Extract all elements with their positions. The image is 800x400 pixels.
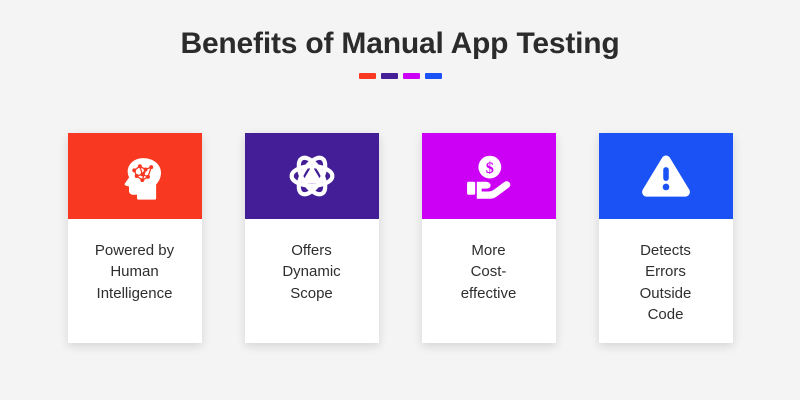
card-body-2: Offers Dynamic Scope (245, 219, 379, 343)
card-body-3: More Cost- effective (422, 219, 556, 343)
card-header-1 (68, 133, 202, 219)
card-label-2: Offers Dynamic Scope (274, 240, 348, 304)
atom-icon (286, 150, 338, 202)
card-label-4: Detects Errors Outside Code (632, 240, 700, 325)
benefit-card-powered-by-human-intelligence[interactable]: Powered by Human Intelligence (68, 133, 202, 343)
benefit-card-more-cost-effective[interactable]: $ More Cost- effective (422, 133, 556, 343)
card-body-1: Powered by Human Intelligence (68, 219, 202, 343)
divider-dashes (359, 73, 442, 79)
benefit-card-detects-errors-outside-code[interactable]: Detects Errors Outside Code (599, 133, 733, 343)
infographic-root: Benefits of Manual App Testing (0, 0, 800, 400)
page-title: Benefits of Manual App Testing (180, 27, 619, 60)
benefit-cards-row: Powered by Human Intelligence (0, 133, 800, 343)
benefit-card-offers-dynamic-scope[interactable]: Offers Dynamic Scope (245, 133, 379, 343)
card-body-4: Detects Errors Outside Code (599, 219, 733, 343)
card-header-4 (599, 133, 733, 219)
head-brain-network-icon (109, 150, 161, 202)
dash-blue (425, 73, 442, 79)
card-header-3: $ (422, 133, 556, 219)
hand-holding-coin-icon: $ (463, 150, 515, 202)
dash-magenta (403, 73, 420, 79)
warning-triangle-icon (640, 150, 692, 202)
card-label-3: More Cost- effective (453, 240, 525, 304)
dash-purple (381, 73, 398, 79)
svg-text:$: $ (485, 159, 493, 177)
card-header-2 (245, 133, 379, 219)
dash-red (359, 73, 376, 79)
card-label-1: Powered by Human Intelligence (87, 240, 182, 304)
